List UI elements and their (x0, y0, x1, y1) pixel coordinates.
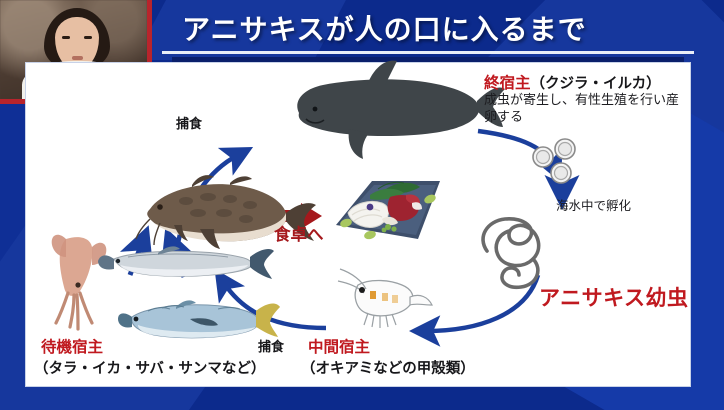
whale-illustration (297, 61, 505, 159)
presenter-mouth (72, 56, 83, 60)
slide-canvas: アニサキスが人の口に入るまで (0, 0, 724, 410)
waiting-host-subtext: （タラ・イカ・サバ・サンマなど） (34, 357, 265, 378)
to-table-label: 食卓へ (274, 221, 324, 245)
hatching-label: 海水中で孵化 (556, 195, 631, 214)
final-host-description: 成虫が寄生し、有性生殖を行い産卵する (484, 91, 684, 125)
squid-illustration (52, 235, 107, 329)
intermediate-host-heading-text: 中間宿主 (308, 339, 370, 356)
mackerel-illustration (118, 300, 280, 337)
final-host-heading-paren: （クジラ・イルカ） (531, 76, 661, 92)
krill-illustration (338, 269, 432, 328)
intermediate-host-subtext: （オキアミなどの甲殻類） (301, 357, 475, 378)
final-host-heading: 終宿主（クジラ・イルカ） (484, 71, 661, 93)
presenter-eye-right (84, 36, 92, 39)
title-underline (162, 51, 694, 54)
slide-title-bar: アニサキスが人の口に入るまで (160, 6, 708, 50)
prey-label-top: 捕食 (176, 113, 202, 132)
sashimi-plate-illustration (336, 181, 440, 240)
intermediate-host-heading: 中間宿主 (308, 335, 370, 357)
waiting-host-heading-text: 待機宿主 (41, 339, 103, 356)
saury-illustration (98, 246, 274, 279)
presenter-eye-left (62, 36, 70, 39)
anisakis-larva-worm-illustration (483, 219, 539, 288)
final-host-heading-text: 終宿主 (484, 75, 531, 92)
prey-label-bottom: 捕食 (258, 336, 284, 355)
lifecycle-diagram-panel: 終宿主（クジラ・イルカ） 成虫が寄生し、有性生殖を行い産卵する 海水中で孵化 ア… (25, 62, 691, 387)
larva-label: アニサキス幼虫 (539, 282, 688, 312)
page-title: アニサキスが人の口に入るまで (160, 8, 587, 48)
anisakis-eggs-illustration (533, 139, 575, 183)
waiting-host-heading: 待機宿主 (41, 335, 103, 357)
